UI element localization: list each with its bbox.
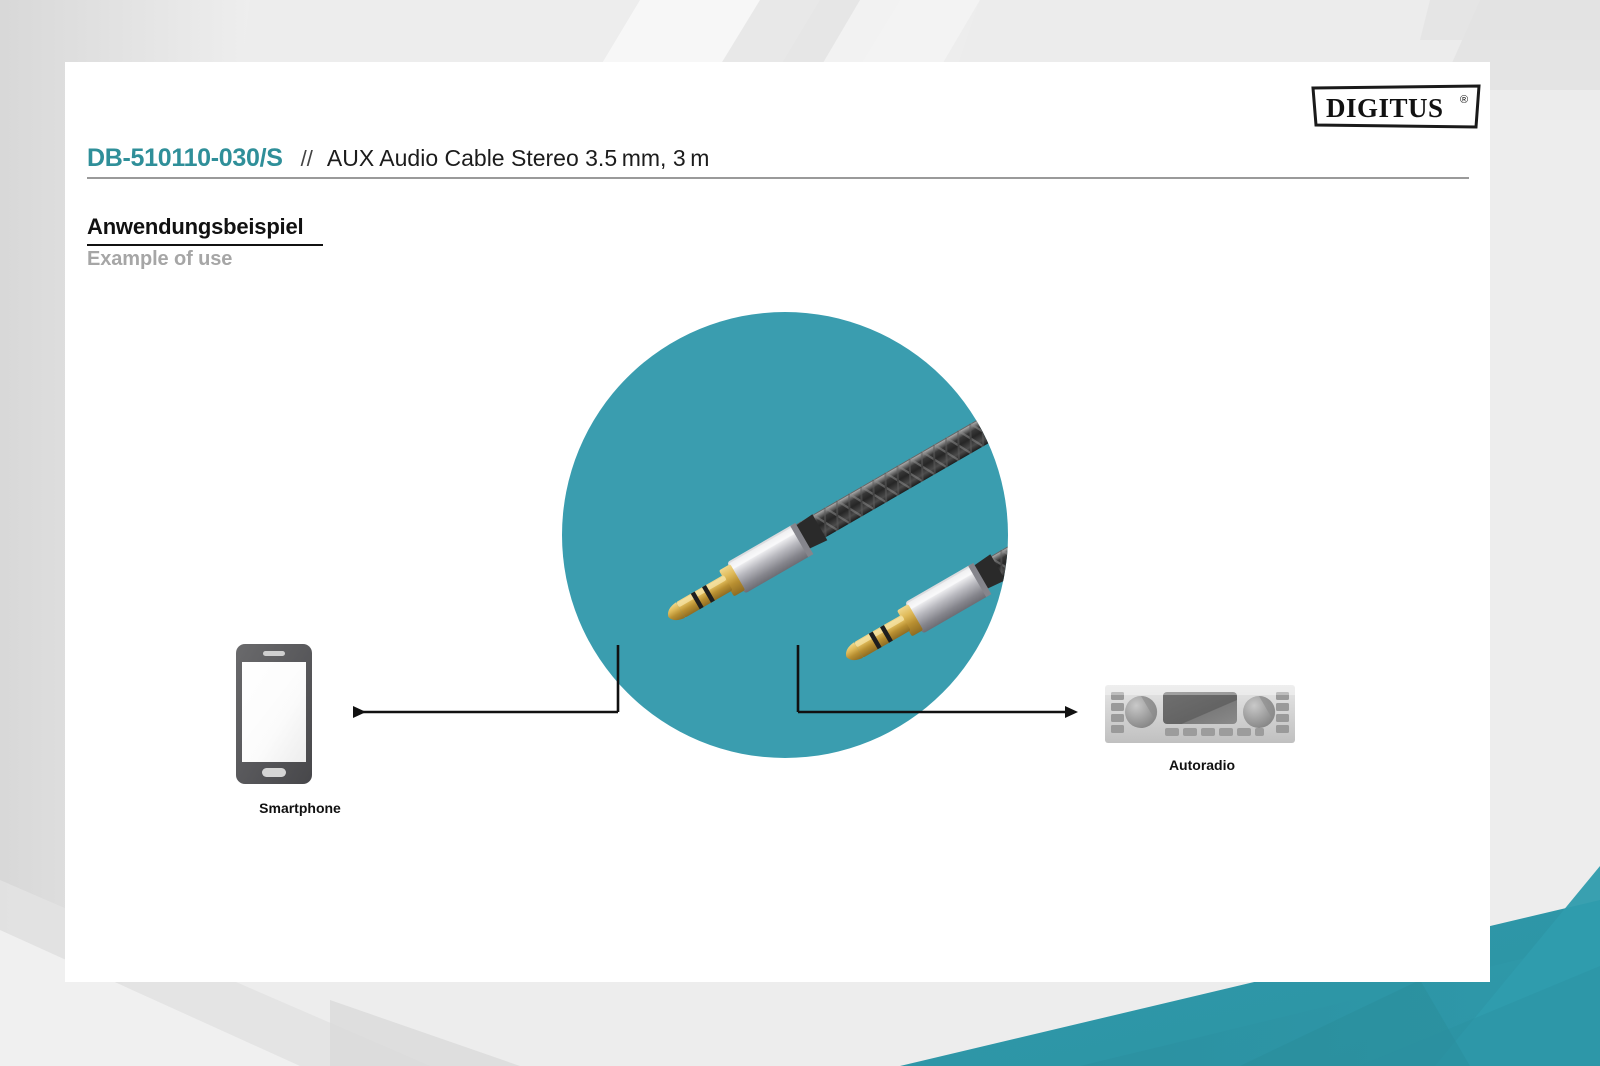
slide-canvas: DIGITUS ® DB-510110-030/S // AUX Audio C… bbox=[0, 0, 1600, 1066]
radio-display bbox=[1163, 692, 1237, 724]
smartphone-icon bbox=[236, 644, 312, 784]
content-card: DIGITUS ® DB-510110-030/S // AUX Audio C… bbox=[65, 62, 1490, 982]
autoradio-label: Autoradio bbox=[1107, 757, 1297, 773]
usage-diagram-svg bbox=[65, 62, 1490, 982]
usage-diagram: Smartphone Autoradio bbox=[65, 62, 1490, 982]
car-radio-icon bbox=[1105, 685, 1295, 743]
smartphone-label: Smartphone bbox=[205, 800, 395, 816]
